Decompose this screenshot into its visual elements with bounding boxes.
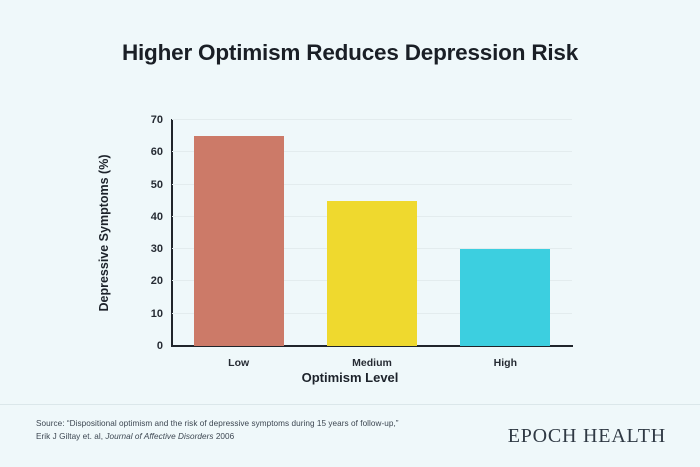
footer-divider xyxy=(0,404,700,405)
y-tick-label: 50 xyxy=(151,179,172,191)
plot-area: 010203040506070 LowMediumHigh xyxy=(172,120,572,346)
bar-low xyxy=(194,136,284,346)
bar-chart-figure: Depressive Symptoms (%) 010203040506070 … xyxy=(0,0,700,467)
source-year: 2006 xyxy=(214,432,235,441)
y-tick-label: 40 xyxy=(151,211,172,223)
y-tick-label: 60 xyxy=(151,146,172,158)
y-axis-title: Depressive Symptoms (%) xyxy=(97,154,111,311)
epoch-health-logo: EPOCH HEALTH xyxy=(508,425,666,448)
y-tick-label: 20 xyxy=(151,275,172,287)
bar-medium xyxy=(327,201,417,346)
source-line-1: Source: “Dispositional optimism and the … xyxy=(36,418,399,431)
x-axis-title: Optimism Level xyxy=(0,370,700,385)
bar-series xyxy=(172,120,572,346)
y-tick-label: 10 xyxy=(151,308,172,320)
y-tick-label: 70 xyxy=(151,114,172,126)
bar-high xyxy=(460,249,550,346)
source-line-2: Erik J Giltay et. al, Journal of Affecti… xyxy=(36,431,399,444)
y-tick-label: 0 xyxy=(157,340,172,352)
source-journal: Journal of Affective Disorders xyxy=(105,432,213,441)
source-citation: Source: “Dispositional optimism and the … xyxy=(36,418,399,443)
x-tick-label: Low xyxy=(228,357,249,369)
source-authors: Erik J Giltay et. al, xyxy=(36,432,105,441)
y-tick-label: 30 xyxy=(151,243,172,255)
x-tick-label: High xyxy=(494,357,517,369)
x-tick-label: Medium xyxy=(352,357,392,369)
